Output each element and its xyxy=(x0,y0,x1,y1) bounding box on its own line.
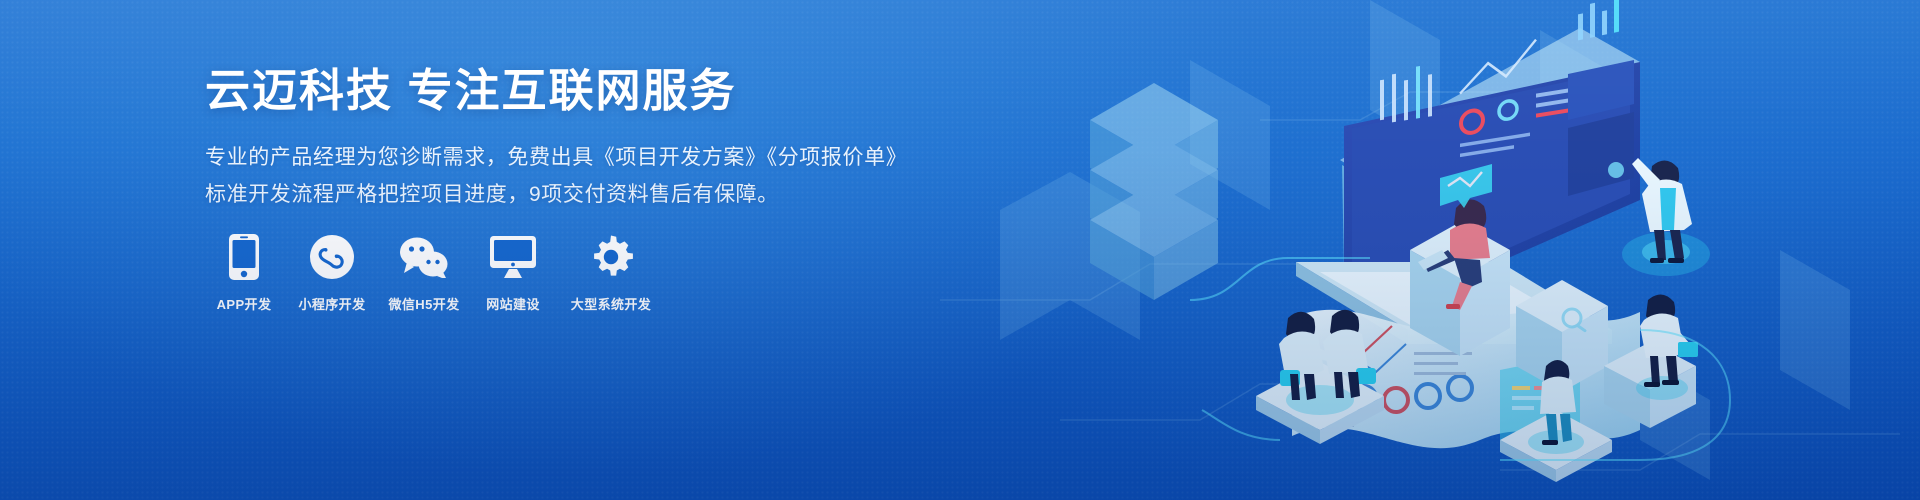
service-label: 小程序开发 xyxy=(298,294,365,313)
service-list: APP开发 小程序开发 xyxy=(205,232,669,313)
service-item-website[interactable]: 网站建设 xyxy=(473,232,553,313)
service-item-wechat-h5[interactable]: 微信H5开发 xyxy=(381,232,467,313)
mobile-phone-icon xyxy=(229,232,259,282)
wechat-chat-icon xyxy=(399,232,449,282)
service-label: 微信H5开发 xyxy=(388,294,459,313)
service-item-app[interactable]: APP开发 xyxy=(205,232,283,313)
hero-copy-block: 云迈科技 专注互联网服务 专业的产品经理为您诊断需求，免费出具《项目开发方案》《… xyxy=(205,66,905,214)
mini-program-icon xyxy=(310,232,354,282)
service-label: 大型系统开发 xyxy=(571,294,651,313)
service-item-mini-program[interactable]: 小程序开发 xyxy=(289,232,375,313)
service-label: APP开发 xyxy=(217,294,272,313)
service-item-large-system[interactable]: 大型系统开发 xyxy=(559,232,663,313)
server-stack xyxy=(1090,83,1218,300)
gear-icon xyxy=(589,232,633,282)
hero-banner: 云迈科技 专注互联网服务 专业的产品经理为您诊断需求，免费出具《项目开发方案》《… xyxy=(0,0,1920,500)
subtitle-line-2: 标准开发流程严格把控项目进度，9项交付资料售后有保障。 xyxy=(205,177,905,214)
service-label: 网站建设 xyxy=(486,294,540,313)
monitor-icon xyxy=(490,232,536,282)
hero-illustration xyxy=(940,0,1920,500)
subtitle-line-1: 专业的产品经理为您诊断需求，免费出具《项目开发方案》《分项报价单》 xyxy=(205,140,905,177)
page-title: 云迈科技 专注互联网服务 xyxy=(205,66,905,116)
